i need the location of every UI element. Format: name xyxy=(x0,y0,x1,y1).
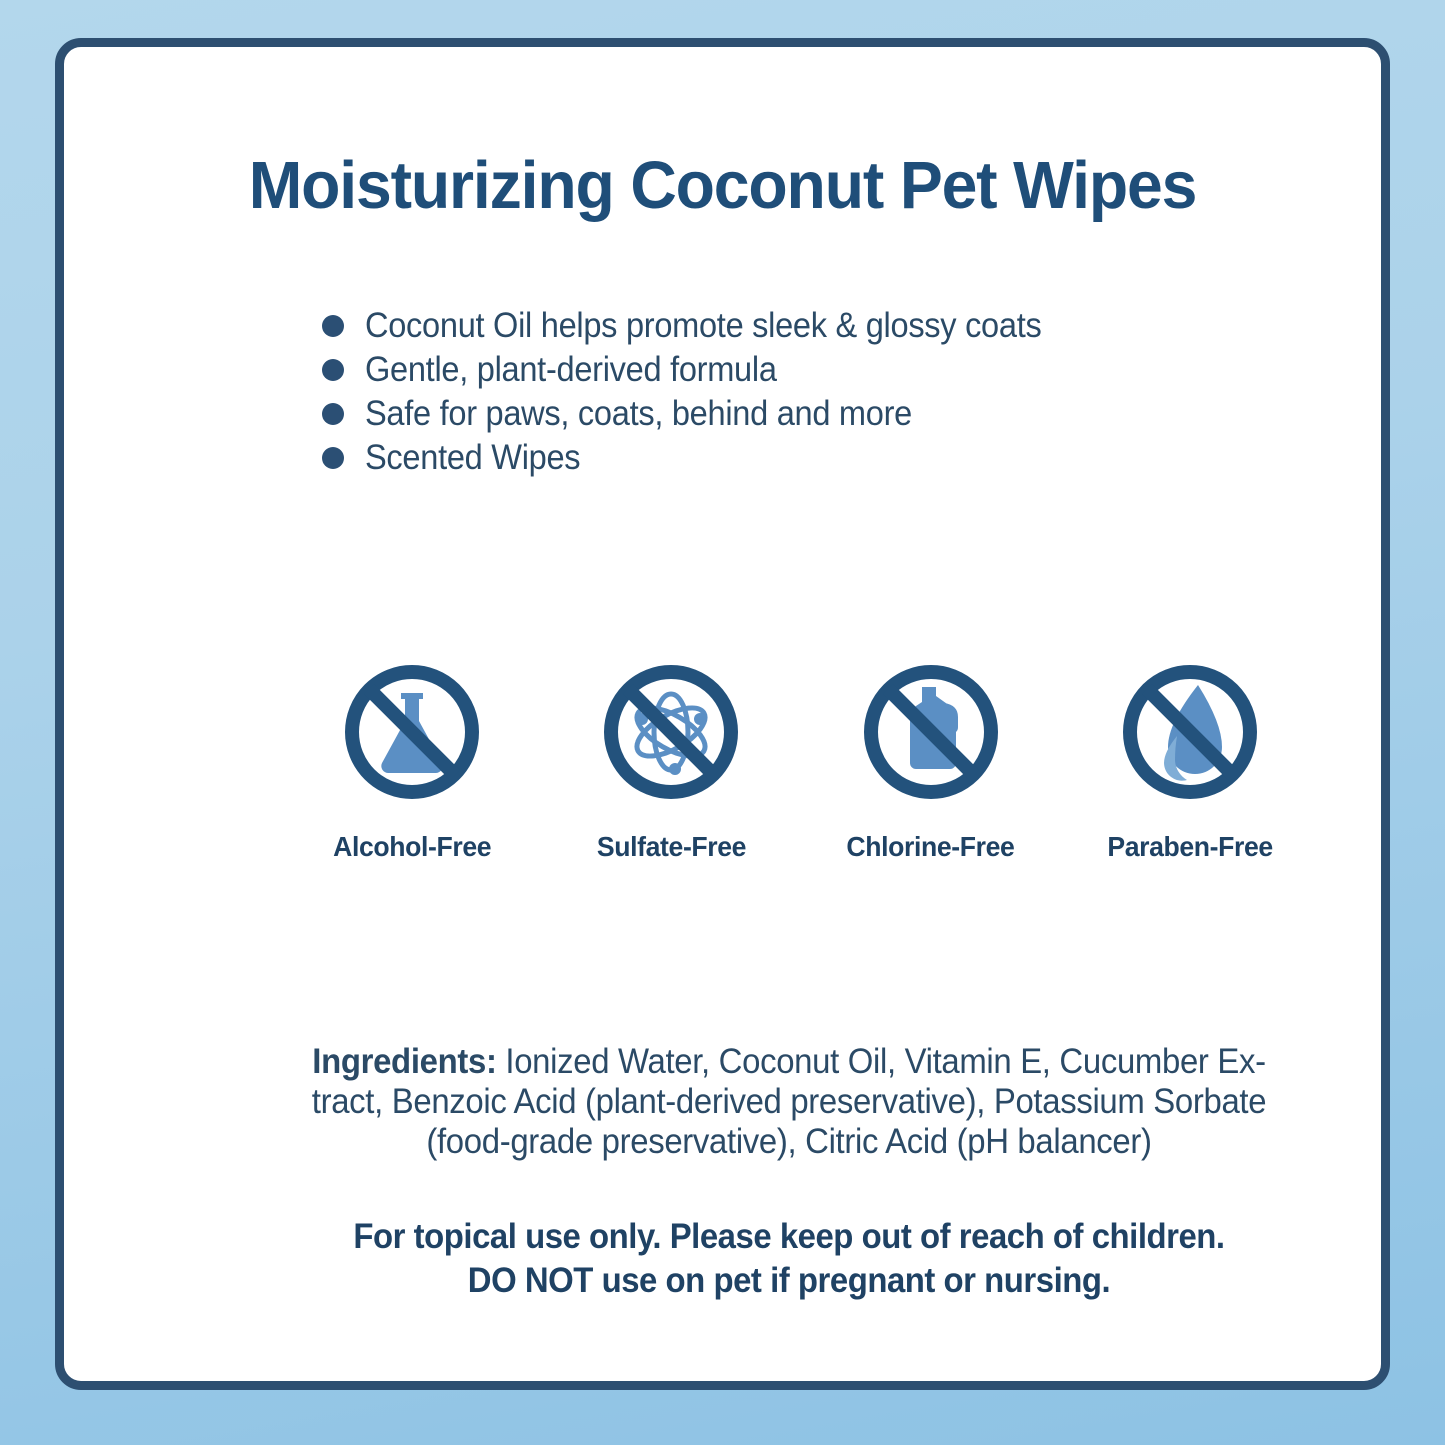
badge-sulfate-free: Sulfate-Free xyxy=(555,657,787,863)
badge-paraben-free: Paraben-Free xyxy=(1074,657,1306,863)
benefit-text: Coconut Oil helps promote sleek & glossy… xyxy=(365,306,1041,346)
badge-label: Sulfate-Free xyxy=(597,831,746,863)
benefit-text: Safe for paws, coats, behind and more xyxy=(365,394,912,434)
bullet-icon xyxy=(322,447,344,469)
ingredients-label: Ingredients: xyxy=(312,1042,496,1081)
list-item: Coconut Oil helps promote sleek & glossy… xyxy=(322,304,1322,348)
product-infographic: Moisturizing Coconut Pet Wipes Coconut O… xyxy=(0,0,1445,1445)
ingredients-line-3: (food-grade preservative), Citric Acid (… xyxy=(249,1122,1330,1162)
list-item: Scented Wipes xyxy=(322,436,1322,480)
free-from-badges: Alcohol-Free xyxy=(296,657,1306,863)
benefit-text: Scented Wipes xyxy=(365,438,580,478)
warning-block: For topical use only. Please keep out of… xyxy=(214,1215,1364,1303)
list-item: Safe for paws, coats, behind and more xyxy=(322,392,1322,436)
no-flask-icon xyxy=(337,657,487,807)
warning-line-2: DO NOT use on pet if pregnant or nursing… xyxy=(249,1259,1330,1303)
badge-chlorine-free: Chlorine-Free xyxy=(815,657,1047,863)
no-droplet-icon xyxy=(1115,657,1265,807)
warning-line-1: For topical use only. Please keep out of… xyxy=(249,1215,1330,1259)
badge-label: Alcohol-Free xyxy=(333,831,491,863)
badge-label: Paraben-Free xyxy=(1107,831,1272,863)
bullet-icon xyxy=(322,403,344,425)
benefits-list: Coconut Oil helps promote sleek & glossy… xyxy=(322,304,1322,480)
no-atom-icon xyxy=(596,657,746,807)
badge-label: Chlorine-Free xyxy=(847,831,1015,863)
ingredients-block: Ingredients: Ionized Water, Coconut Oil,… xyxy=(214,1042,1364,1162)
ingredients-line-1: Ingredients: Ionized Water, Coconut Oil,… xyxy=(249,1042,1330,1082)
ingredients-text-1: Ionized Water, Coconut Oil, Vitamin E, C… xyxy=(497,1042,1266,1081)
bullet-icon xyxy=(322,359,344,381)
badge-alcohol-free: Alcohol-Free xyxy=(296,657,528,863)
page-title: Moisturizing Coconut Pet Wipes xyxy=(90,147,1354,224)
bullet-icon xyxy=(322,315,344,337)
info-card: Moisturizing Coconut Pet Wipes Coconut O… xyxy=(55,38,1390,1390)
no-bleach-jug-icon xyxy=(856,657,1006,807)
benefit-text: Gentle, plant-derived formula xyxy=(365,350,777,390)
ingredients-line-2: tract, Benzoic Acid (plant-derived prese… xyxy=(249,1082,1330,1122)
list-item: Gentle, plant-derived formula xyxy=(322,348,1322,392)
